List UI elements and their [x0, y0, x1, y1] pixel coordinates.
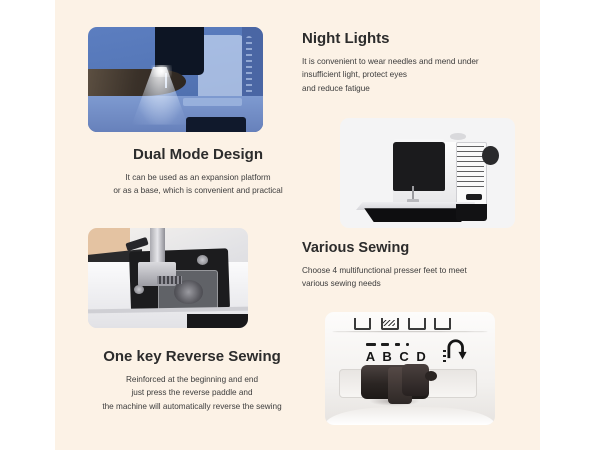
stitch-symbol-4-icon	[434, 318, 452, 330]
machine-head-black	[393, 142, 446, 190]
spool-pin-shape	[450, 133, 466, 140]
zigzag-symbol-icon	[381, 320, 395, 326]
photo-one-key-reverse-sewing: A B C D	[325, 312, 495, 425]
text-block-one-key-reverse-sewing: One key Reverse Sewing Reinforced at the…	[70, 348, 314, 413]
machine-base-dark	[456, 204, 488, 222]
selector-letters-label: A B C D	[366, 349, 434, 364]
product-feature-infographic: Night Lights It is convenient to wear ne…	[0, 0, 600, 450]
heading-various-sewing: Various Sewing	[302, 240, 526, 256]
arrow-dots-icon	[443, 350, 446, 361]
body-night-lights-line-2: insufficient light, protect eyes	[302, 68, 532, 81]
photo-dual-mode-design	[340, 118, 515, 228]
body-reverse-line-2: just press the reverse paddle and	[70, 386, 314, 399]
night-light-scene	[88, 27, 263, 132]
reverse-paddle-right	[402, 364, 429, 396]
needle-plate-strip	[183, 98, 243, 105]
photo-night-lights	[88, 27, 263, 132]
heading-dual-mode-design: Dual Mode Design	[85, 146, 311, 163]
plate-screw-right	[197, 255, 208, 265]
control-knob	[466, 194, 482, 201]
stitch-symbol-3-icon	[408, 318, 426, 330]
extension-table-dark	[186, 117, 246, 132]
stitch-symbol-1-icon	[354, 318, 372, 330]
body-dual-mode-line-1: It can be used as an expansion platform	[85, 171, 311, 184]
heading-one-key-reverse-sewing: One key Reverse Sewing	[70, 348, 314, 365]
text-block-night-lights: Night Lights It is convenient to wear ne…	[302, 30, 532, 95]
body-various-sewing-line-2: various sewing needs	[302, 277, 526, 290]
body-night-lights-line-1: It is convenient to wear needles and men…	[302, 55, 532, 68]
stitch-selector-dial	[482, 146, 500, 166]
dash-d-icon	[406, 343, 408, 346]
feed-dog	[157, 276, 183, 284]
body-dual-mode-line-2: or as a base, which is convenient and pr…	[85, 184, 311, 197]
body-reverse-line-1: Reinforced at the beginning and end	[70, 373, 314, 386]
dash-c-icon	[395, 343, 400, 346]
plate-screw-left	[134, 285, 144, 294]
led-glow	[151, 65, 172, 78]
body-night-lights-line-3: and reduce fatigue	[302, 82, 532, 95]
extension-table-body	[361, 208, 470, 222]
stitch-length-dashes	[366, 339, 424, 348]
body-reverse-line-3: the machine will automatically reverse t…	[70, 400, 314, 413]
body-various-sewing-line-1: Choose 4 multifunctional presser feet to…	[302, 264, 526, 277]
heading-night-lights: Night Lights	[302, 30, 532, 47]
text-block-dual-mode-design: Dual Mode Design It can be used as an ex…	[85, 146, 311, 198]
dash-b-icon	[381, 343, 389, 346]
needle-shank	[150, 228, 164, 264]
stitch-chart-rows	[457, 146, 483, 190]
dash-a-icon	[366, 343, 376, 346]
photo-various-sewing	[88, 228, 248, 328]
machine-vent-dots	[246, 36, 252, 95]
text-block-various-sewing: Various Sewing Choose 4 multifunctional …	[302, 240, 526, 291]
reverse-paddle-tip	[425, 371, 437, 381]
table-dark-corner	[187, 314, 248, 328]
